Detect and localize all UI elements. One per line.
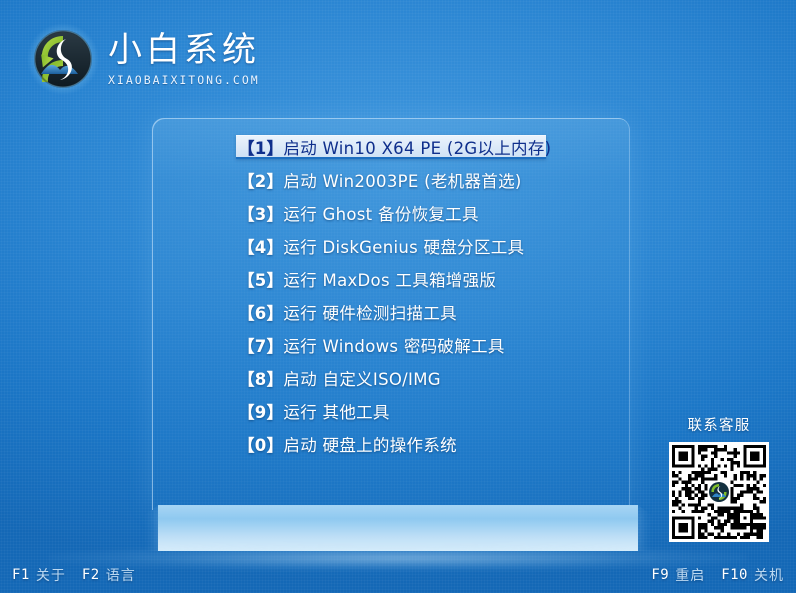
boot-menu-item-label: 运行 DiskGenius 硬盘分区工具 bbox=[283, 234, 524, 258]
boot-menu-list: 【1】启动 Win10 X64 PE (2G以上内存)【2】启动 Win2003… bbox=[152, 135, 630, 465]
boot-menu-item-label: 运行 Ghost 备份恢复工具 bbox=[283, 201, 478, 225]
boot-menu-item-8[interactable]: 【8】启动 自定义ISO/IMG bbox=[152, 366, 630, 390]
brand-name-cn: 小白系统 bbox=[108, 31, 260, 69]
boot-menu-item-key: 【0】 bbox=[238, 432, 283, 456]
boot-menu-item-label: 运行 MaxDos 工具箱增强版 bbox=[283, 267, 496, 291]
function-key-hint-f10[interactable]: F10关机 bbox=[721, 565, 784, 585]
function-key-hint-f2[interactable]: F2语言 bbox=[82, 565, 136, 585]
boot-menu-item-key: 【4】 bbox=[238, 234, 283, 258]
brand-logo: 小白系统 XIAOBAIXITONG.COM bbox=[26, 22, 260, 96]
boot-menu-item-label: 启动 Win10 X64 PE (2G以上内存) bbox=[283, 135, 551, 159]
function-key-hint-f1[interactable]: F1关于 bbox=[12, 565, 66, 585]
boot-menu-item-key: 【5】 bbox=[238, 267, 283, 291]
boot-menu-item-4[interactable]: 【4】运行 DiskGenius 硬盘分区工具 bbox=[152, 234, 630, 258]
function-key-bar: F1关于F2语言 F9重启F10关机 bbox=[0, 557, 796, 593]
qr-code-icon[interactable] bbox=[669, 442, 769, 542]
function-key-name: F9 bbox=[651, 567, 669, 583]
boot-menu-item-1[interactable]: 【1】启动 Win10 X64 PE (2G以上内存) bbox=[236, 135, 546, 159]
function-key-label: 关于 bbox=[36, 565, 66, 585]
function-key-label: 语言 bbox=[106, 565, 136, 585]
customer-service-qr-panel: 联系客服 bbox=[666, 414, 772, 542]
function-key-label: 关机 bbox=[754, 565, 784, 585]
boot-menu-item-3[interactable]: 【3】运行 Ghost 备份恢复工具 bbox=[152, 201, 630, 225]
function-key-name: F1 bbox=[12, 567, 30, 583]
boot-menu-item-key: 【3】 bbox=[238, 201, 283, 225]
boot-menu-item-key: 【1】 bbox=[238, 135, 283, 159]
boot-menu-item-label: 启动 自定义ISO/IMG bbox=[283, 366, 440, 390]
function-key-name: F10 bbox=[721, 567, 748, 583]
boot-menu-item-key: 【2】 bbox=[238, 168, 283, 192]
boot-menu-item-9[interactable]: 【9】运行 其他工具 bbox=[152, 399, 630, 423]
boot-menu-item-7[interactable]: 【7】运行 Windows 密码破解工具 bbox=[152, 333, 630, 357]
brand-name-en: XIAOBAIXITONG.COM bbox=[108, 73, 260, 87]
qr-panel-title: 联系客服 bbox=[666, 414, 772, 435]
brand-logo-icon bbox=[708, 481, 730, 503]
boot-menu-item-2[interactable]: 【2】启动 Win2003PE (老机器首选) bbox=[152, 168, 630, 192]
brand-text: 小白系统 XIAOBAIXITONG.COM bbox=[108, 31, 260, 86]
boot-menu-item-label: 运行 其他工具 bbox=[283, 399, 389, 423]
boot-menu-item-6[interactable]: 【6】运行 硬件检测扫描工具 bbox=[152, 300, 630, 324]
boot-menu-item-label: 运行 Windows 密码破解工具 bbox=[283, 333, 504, 357]
boot-menu-item-10[interactable]: 【0】启动 硬盘上的操作系统 bbox=[152, 432, 630, 456]
function-key-label: 重启 bbox=[675, 565, 705, 585]
boot-menu-item-label: 运行 硬件检测扫描工具 bbox=[283, 300, 457, 324]
boot-menu-item-label: 启动 硬盘上的操作系统 bbox=[283, 432, 457, 456]
function-key-hint-f9[interactable]: F9重启 bbox=[651, 565, 705, 585]
boot-menu-item-label: 启动 Win2003PE (老机器首选) bbox=[283, 168, 521, 192]
function-keys-right: F9重启F10关机 bbox=[651, 565, 784, 585]
boot-menu-screen: 小白系统 XIAOBAIXITONG.COM 【1】启动 Win10 X64 P… bbox=[0, 0, 796, 593]
function-keys-left: F1关于F2语言 bbox=[12, 565, 136, 585]
function-key-name: F2 bbox=[82, 567, 100, 583]
boot-menu-item-5[interactable]: 【5】运行 MaxDos 工具箱增强版 bbox=[152, 267, 630, 291]
boot-menu-item-key: 【7】 bbox=[238, 333, 283, 357]
circular-refresh-logo-icon bbox=[26, 22, 100, 96]
boot-menu-item-key: 【8】 bbox=[238, 366, 283, 390]
boot-menu-item-key: 【9】 bbox=[238, 399, 283, 423]
boot-menu-item-key: 【6】 bbox=[238, 300, 283, 324]
